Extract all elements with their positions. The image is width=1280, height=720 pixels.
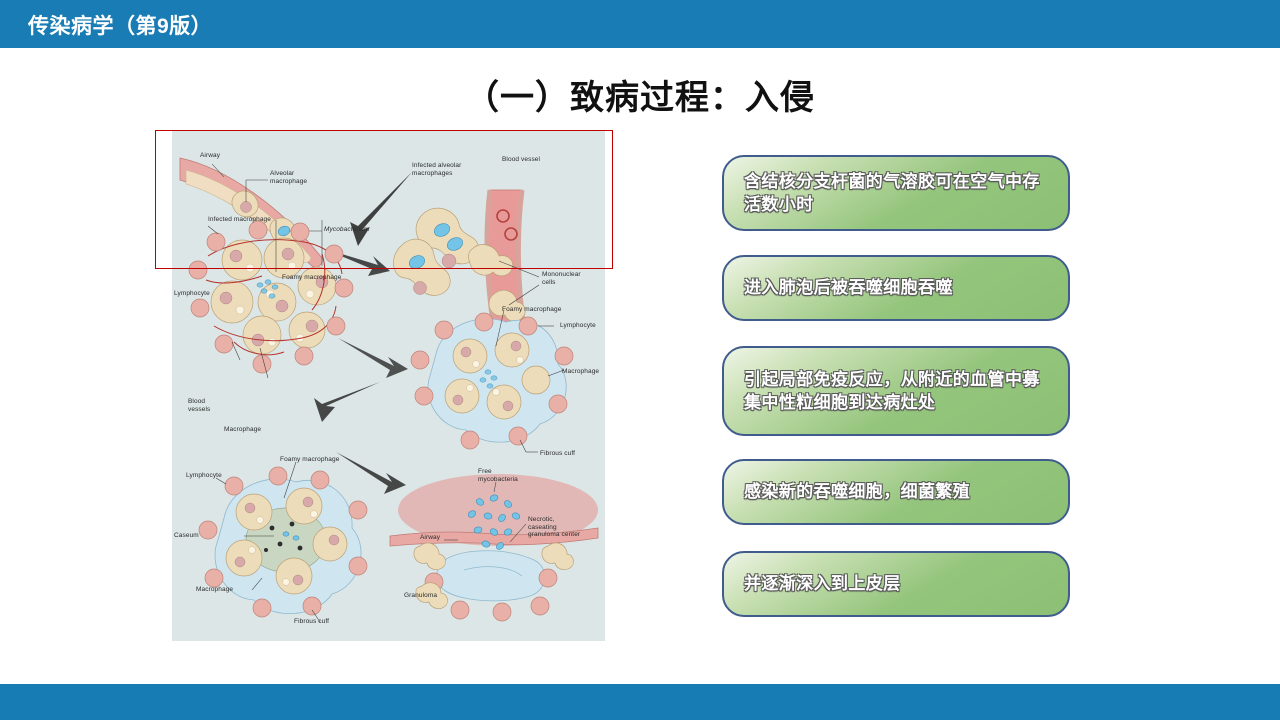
fig-label-blood-vessels: Blood vessels <box>188 398 210 413</box>
callout-text-4: 感染新的吞噬细胞，细菌繁殖 <box>744 480 970 503</box>
callout-text-1: 含结核分支杆菌的气溶胶可在空气中存活数小时 <box>744 170 1048 217</box>
fig-label-lymphocyte-1: Lymphocyte <box>174 290 210 298</box>
fig-label-granuloma: Granuloma <box>404 592 437 600</box>
fig-label-mononuclear-cells: Mononuclear cells <box>542 271 581 286</box>
fig-label-infected-macrophage: Infected macrophage <box>208 216 271 224</box>
slide-root: 传染病学（第9版） （一）致病过程：入侵 <box>0 0 1280 720</box>
fig-label-airway: Airway <box>200 152 220 160</box>
callout-text-2: 进入肺泡后被吞噬细胞吞噬 <box>744 276 953 299</box>
callout-box-1[interactable]: 含结核分支杆菌的气溶胶可在空气中存活数小时 <box>722 155 1070 231</box>
fig-label-lymphocyte-2: Lymphocyte <box>560 322 596 330</box>
callout-box-4[interactable]: 感染新的吞噬细胞，细菌繁殖 <box>722 459 1070 525</box>
figure-svg <box>172 130 605 641</box>
fig-label-caseum: Caseum <box>174 532 199 540</box>
callout-text-5: 并逐渐深入到上皮层 <box>744 572 901 595</box>
fig-label-macrophage-1: Macrophage <box>224 426 261 434</box>
header-title: 传染病学（第9版） <box>28 10 212 40</box>
fig-label-free-mycobacteria: Free mycobacteria <box>478 468 518 483</box>
page-title: （一）致病过程：入侵 <box>0 70 1280 119</box>
fig-label-foamy-macrophage-2: Foamy macrophage <box>502 306 561 314</box>
fig-label-macrophage-3: Macrophage <box>196 586 233 594</box>
fig-label-necrotic-center: Necrotic, caseating granuloma center <box>528 516 580 539</box>
callout-box-3[interactable]: 引起局部免疫反应，从附近的血管中募集中性粒细胞到达病灶处 <box>722 346 1070 436</box>
callout-text-3: 引起局部免疫反应，从附近的血管中募集中性粒细胞到达病灶处 <box>744 368 1048 415</box>
tuberculosis-pathogenesis-figure: Airway Alveolar macrophage Mycobacterium… <box>172 130 605 641</box>
callout-box-5[interactable]: 并逐渐深入到上皮层 <box>722 551 1070 617</box>
fig-label-mycobacterium: Mycobacterium <box>324 226 369 234</box>
fig-label-macrophage-2: Macrophage <box>562 368 599 376</box>
fig-label-alveolar-macrophage: Alveolar macrophage <box>270 170 307 185</box>
fig-label-foamy-macrophage-3: Foamy macrophage <box>280 456 339 464</box>
fig-label-foamy-macrophage-1: Foamy macrophage <box>282 274 341 282</box>
fig-label-fibrous-cuff-2: Fibrous cuff <box>294 618 329 626</box>
fig-label-lymphocyte-3: Lymphocyte <box>186 472 222 480</box>
fig-label-infected-alveolar-macrophages: Infected alveolar macrophages <box>412 162 461 177</box>
footer-bar <box>0 684 1280 720</box>
fig-label-blood-vessel: Blood vessel <box>502 156 540 164</box>
callout-box-2[interactable]: 进入肺泡后被吞噬细胞吞噬 <box>722 255 1070 321</box>
fig-label-fibrous-cuff-1: Fibrous cuff <box>540 450 575 458</box>
fig-label-airway-2: Airway <box>420 534 440 542</box>
